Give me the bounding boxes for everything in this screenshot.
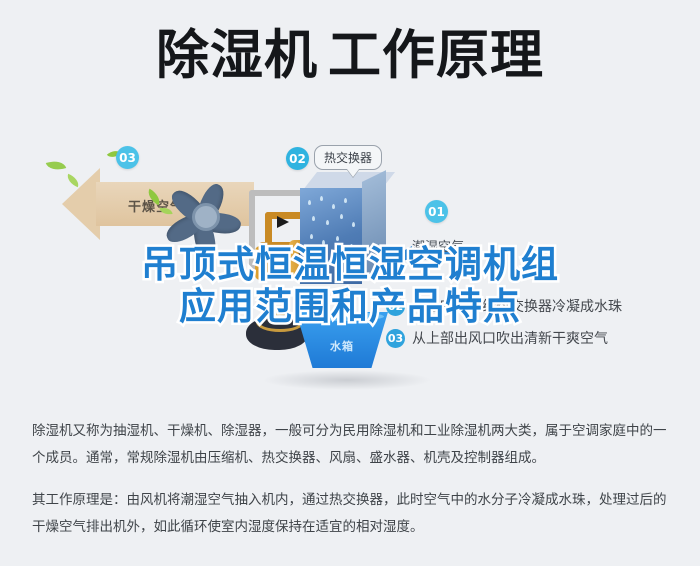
condensation-drops <box>304 194 360 280</box>
arrow-up-icon <box>261 248 273 260</box>
step-badge-03: 03 <box>116 146 139 169</box>
step-badge-01: 01 <box>425 200 448 223</box>
article-body: 除湿机又称为抽湿机、干燥机、除湿器，一般可分为民用除湿机和工业除湿机两大类，属于… <box>32 418 672 555</box>
step-row: 02 潮湿空气流经热交换器冷凝成水珠 <box>386 296 686 316</box>
fan-illustration <box>168 176 254 256</box>
step-description-list: 02 潮湿空气流经热交换器冷凝成水珠 03 从上部出风口吹出清新干爽空气 <box>386 296 686 360</box>
step-row: 03 从上部出风口吹出清新干爽空气 <box>386 328 686 348</box>
hx-side-face <box>362 170 386 278</box>
step-text: 潮湿空气流经热交换器冷凝成水珠 <box>412 296 622 316</box>
heat-exchanger-callout: 热交换器 <box>314 145 382 170</box>
step-number: 03 <box>386 329 405 348</box>
step-badge-02: 02 <box>286 147 309 170</box>
illustration-banner: 除湿机工作原理 干燥空气 <box>0 0 700 400</box>
water-tank-label: 水箱 <box>296 338 388 354</box>
cyan-swoosh-decoration <box>360 110 690 260</box>
page-title: 除湿机工作原理 <box>0 28 700 84</box>
fan-hub <box>192 203 220 231</box>
tank-lip <box>300 312 384 321</box>
humid-air-label: 潮湿空气 <box>412 236 464 255</box>
page-title-part2: 工作原理 <box>328 25 544 86</box>
step-number: 02 <box>386 297 405 316</box>
article-paragraph-1: 除湿机又称为抽湿机、干燥机、除湿器，一般可分为民用除湿机和工业除湿机两大类，属于… <box>32 418 672 473</box>
heat-exchanger-illustration <box>300 172 396 290</box>
arrow-right-icon <box>277 216 289 228</box>
article-paragraph-2: 其工作原理是：由风机将潮湿空气抽入机内，通过热交换器，此时空气中的水分子冷凝成水… <box>32 487 672 542</box>
step-text: 从上部出风口吹出清新干爽空气 <box>412 328 608 348</box>
page-title-part1: 除湿机 <box>156 25 318 86</box>
pipe-segment <box>249 190 303 196</box>
page-root: 除湿机工作原理 干燥空气 <box>0 0 700 566</box>
water-tank-illustration: 水箱 <box>296 312 388 382</box>
